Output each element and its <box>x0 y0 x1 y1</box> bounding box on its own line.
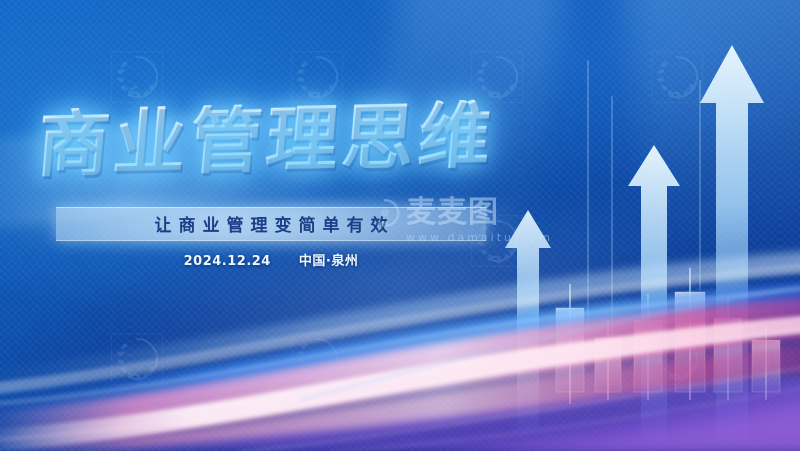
page-title: 商业管理思维 <box>35 99 498 181</box>
subtitle-text: 让商业管理变简单有效 <box>56 207 486 239</box>
poster-canvas: 商业管理思维 让商业管理变简单有效 2024.12.24 中国·泉州 麦麦图 w… <box>0 0 800 451</box>
text-block: 商业管理思维 让商业管理变简单有效 2024.12.24 中国·泉州 麦麦图 w… <box>0 0 800 451</box>
event-date: 2024.12.24 <box>184 254 271 269</box>
event-location: 中国·泉州 <box>299 254 358 269</box>
date-location-line: 2024.12.24 中国·泉州 <box>56 250 486 269</box>
